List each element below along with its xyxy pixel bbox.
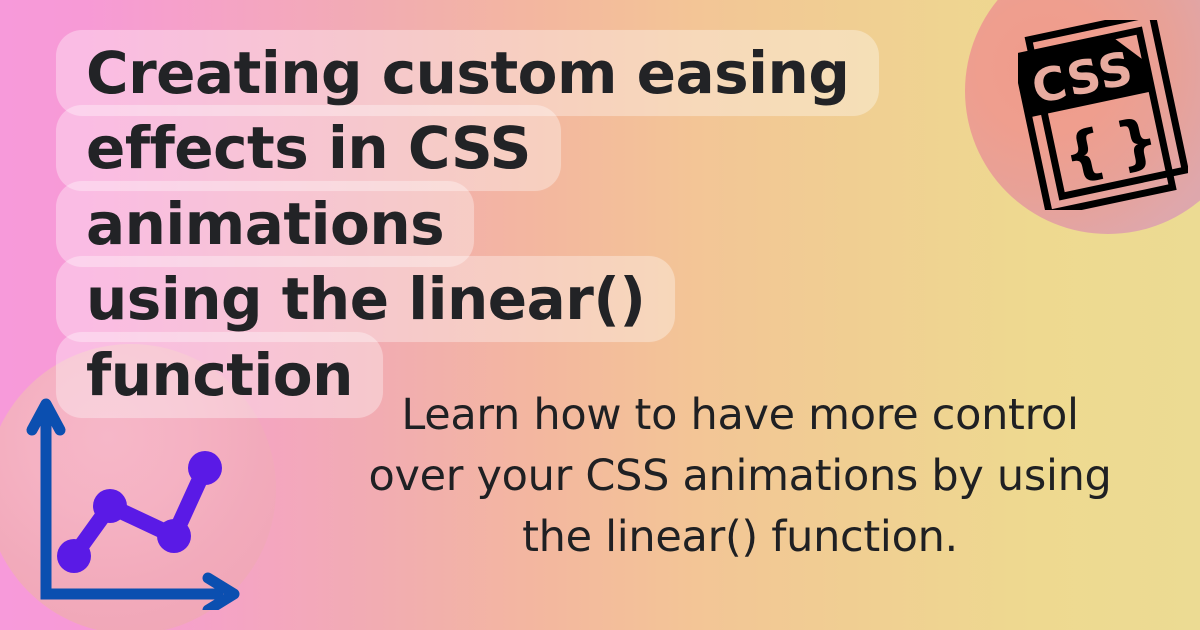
social-card: CSS { } (0, 0, 1200, 630)
page-subtitle: Learn how to have more controlover your … (300, 385, 1180, 568)
page-title: Creating custom easingeffects in CSS ani… (56, 30, 879, 418)
css-file-icon: CSS { } (1018, 20, 1188, 210)
line-chart-icon (20, 388, 250, 610)
subtitle-line-3: the linear() function. (522, 512, 958, 562)
title-line-1: Creating custom easing (56, 30, 879, 116)
title-line-2: effects in CSS animations (56, 105, 561, 266)
subtitle-line-2: over your CSS animations by using (368, 451, 1111, 501)
svg-text:{: { (1057, 115, 1112, 190)
title-block: Creating custom easingeffects in CSS ani… (56, 36, 926, 413)
subtitle-line-1: Learn how to have more control (401, 390, 1078, 440)
